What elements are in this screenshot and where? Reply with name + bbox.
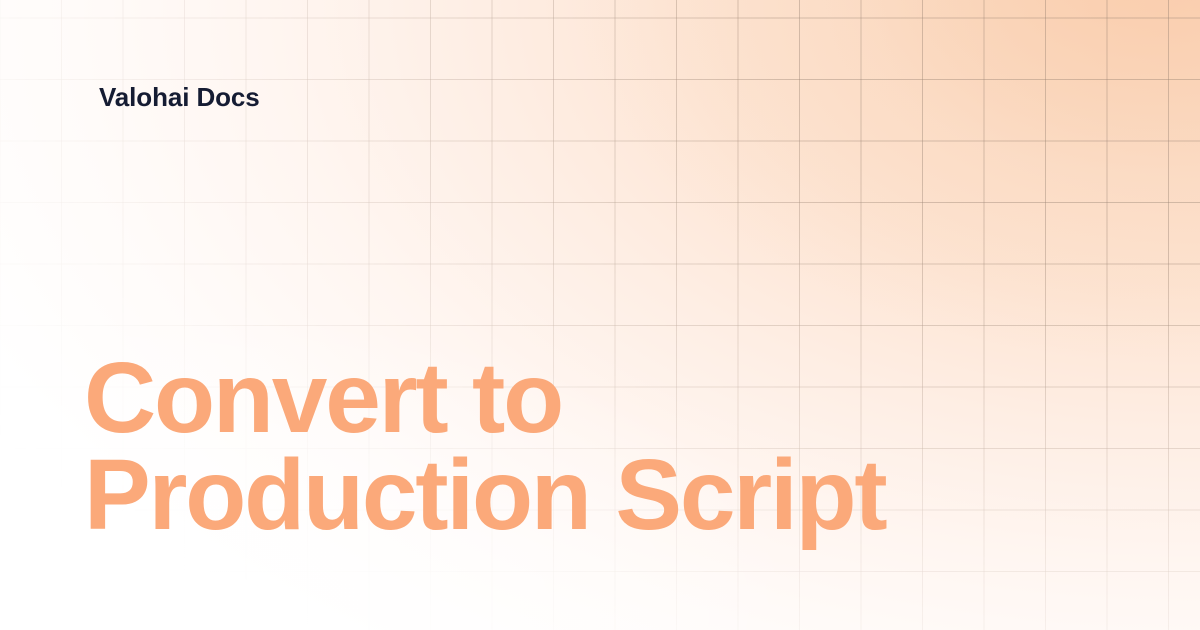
brand-label: Valohai Docs bbox=[99, 82, 260, 113]
page-title: Convert to Production Script bbox=[84, 350, 1034, 544]
og-card: Valohai Docs Convert to Production Scrip… bbox=[0, 0, 1200, 630]
card-content: Valohai Docs Convert to Production Scrip… bbox=[0, 0, 1200, 630]
